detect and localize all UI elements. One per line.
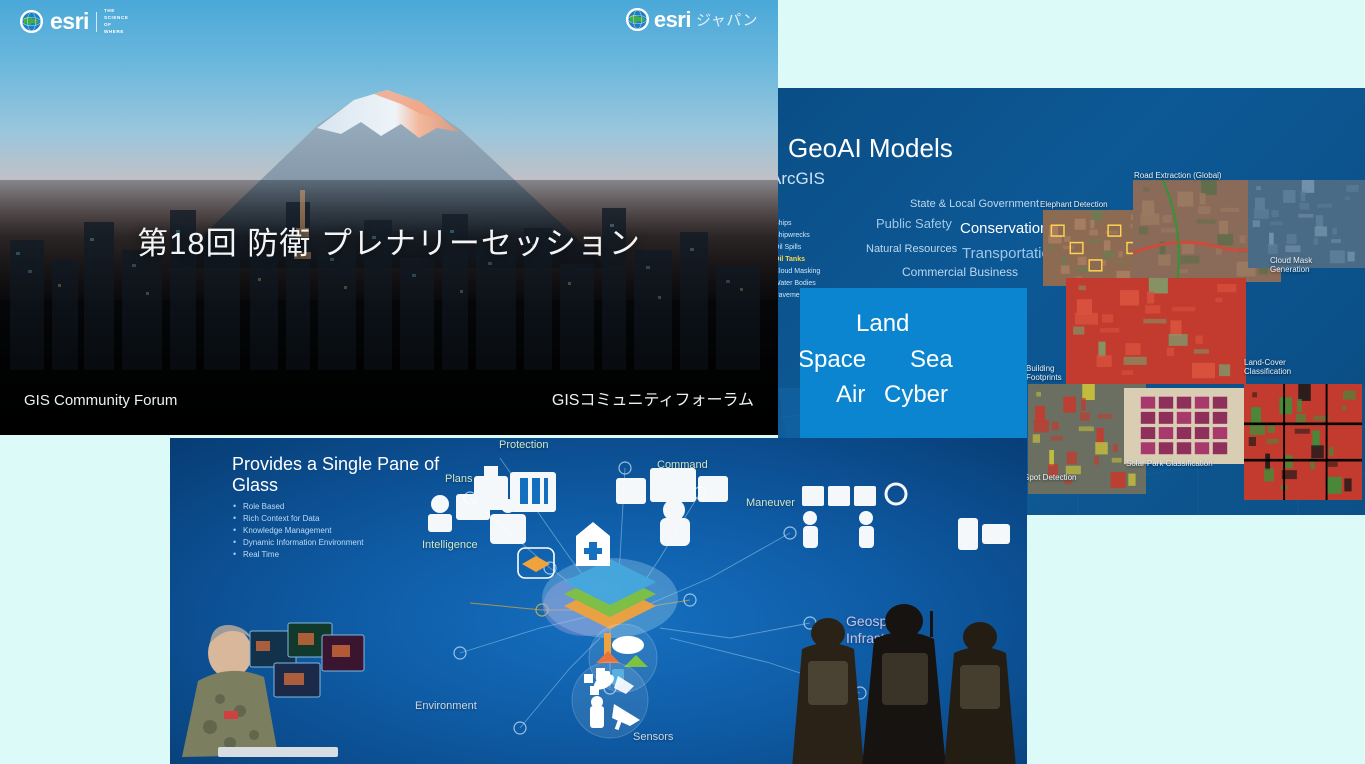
- wordcloud-term: State & Local Government: [910, 198, 1039, 210]
- model-list-item: Cloud Masking: [778, 266, 844, 278]
- title-slide: esri THE SCIENCE OF WHERE esri ジャパン: [0, 0, 778, 435]
- wordcloud-term: Public Safety: [876, 216, 952, 231]
- slide-main-title: 第18回 防衛 プレナリーセッション: [0, 218, 778, 263]
- geoai-sample-image: [1248, 180, 1365, 268]
- geoai-image-label: Road Extraction (Global): [1134, 171, 1222, 180]
- wordcloud-term: Conservation: [960, 220, 1048, 237]
- diagram-node-label: Protection: [499, 439, 549, 451]
- esri-tagline: THE SCIENCE OF WHERE: [104, 8, 129, 36]
- wordcloud-term: Natural Resources: [866, 243, 957, 255]
- model-list-item: Oil Spills: [778, 242, 844, 254]
- soldier-workstation: [178, 603, 368, 763]
- geoai-image-label: Land-Cover Classification: [1244, 358, 1291, 377]
- wordcloud-term: Commercial Business: [902, 265, 1018, 279]
- diagram-node-label: Environment: [415, 700, 477, 712]
- esri-globe-icon: [20, 10, 43, 33]
- model-list-item: Ships: [778, 218, 844, 230]
- geoai-sample-image: [1124, 388, 1244, 464]
- esri-japan-wordmark: esri: [654, 9, 691, 31]
- sensors-icon-cluster: [570, 660, 650, 740]
- geoai-image-label: Solar Park Classification: [1126, 459, 1213, 468]
- domain-term: Space: [800, 346, 866, 374]
- logo-divider: [96, 12, 97, 32]
- domain-term: Air: [836, 381, 865, 409]
- esri-japan-kana: ジャパン: [696, 9, 758, 30]
- single-pane-slide: Provides a Single Pane of Glass Role Bas…: [170, 438, 1027, 764]
- footer-right: GISコミュニティフォーラム: [552, 386, 754, 410]
- soldiers-silhouette: [780, 603, 1027, 764]
- esri-japan-logo: esri ジャパン: [626, 8, 758, 31]
- domain-term: Land: [856, 310, 909, 338]
- domain-term: Sea: [910, 346, 953, 374]
- model-list-item: Shipwrecks: [778, 230, 844, 242]
- esri-wordmark: esri: [50, 10, 89, 33]
- footer-left: GIS Community Forum: [24, 392, 177, 409]
- esri-japan-globe-icon: [626, 8, 649, 31]
- screenshot-stage: esri THE SCIENCE OF WHERE esri ジャパン: [0, 0, 1365, 764]
- geoai-sample-image: [1066, 278, 1246, 384]
- geoai-sample-image: [1244, 384, 1362, 500]
- geoai-image-label: Building Footprints: [1026, 364, 1062, 383]
- geoai-image-label: Elephant Detection: [1040, 200, 1108, 209]
- geoai-image-label: Spot Detection: [1024, 473, 1076, 482]
- geoai-image-label: Cloud Mask Generation: [1270, 256, 1312, 275]
- domain-term: Cyber: [884, 381, 948, 409]
- protection-medical-icon: [572, 518, 672, 588]
- model-list-item: Oil Tanks: [778, 254, 844, 266]
- esri-logo: esri THE SCIENCE OF WHERE: [20, 8, 129, 36]
